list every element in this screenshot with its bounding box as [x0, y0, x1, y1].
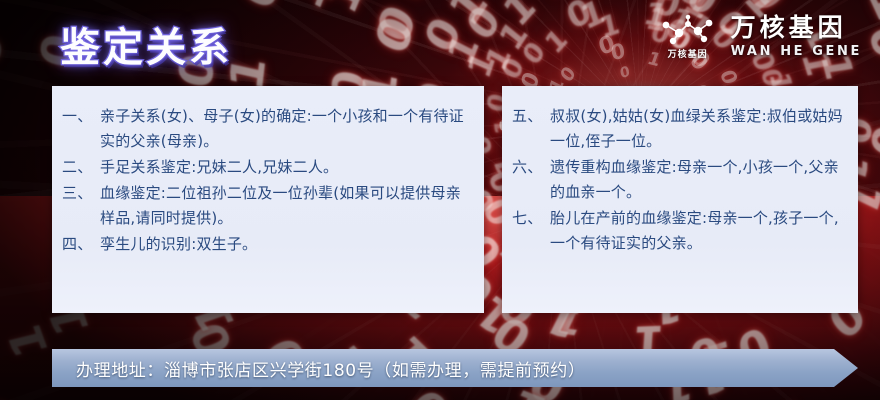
list-item-number: 七、: [512, 206, 550, 231]
brand-logo: 万核基因 万核基因 WAN HE GENE: [657, 14, 862, 60]
list-item: 三、 血缘鉴定:二位祖孙二位及一位孙辈(如果可以提供母亲样品,请同时提供)。: [62, 181, 472, 231]
list-item-number: 六、: [512, 155, 550, 180]
list-item-text: 血缘鉴定:二位祖孙二位及一位孙辈(如果可以提供母亲样品,请同时提供)。: [100, 181, 472, 231]
list-item-number: 四、: [62, 232, 100, 257]
list-item-text: 孪生儿的识别:双生子。: [100, 232, 472, 257]
list-item: 一、 亲子关系(女)、母子(女)的确定:一个小孩和一个有待证实的父亲(母亲)。: [62, 104, 472, 154]
list-item-number: 一、: [62, 104, 100, 129]
address-banner-text: 办理地址：淄博市张店区兴学街180号（如需办理，需提前预约）: [52, 356, 585, 381]
list-item: 二、 手足关系鉴定:兄妹二人,兄妹二人。: [62, 155, 472, 180]
list-item-text: 叔叔(女),姑姑(女)血绿关系鉴定:叔伯或姑妈一位,侄子一位。: [550, 104, 846, 154]
list-item: 五、 叔叔(女),姑姑(女)血绿关系鉴定:叔伯或姑妈一位,侄子一位。: [512, 104, 846, 154]
brand-name-cn: 万核基因: [731, 14, 862, 43]
list-item-number: 二、: [62, 155, 100, 180]
list-item-number: 三、: [62, 181, 100, 206]
page-title: 鉴定关系: [60, 15, 232, 73]
list-item-text: 手足关系鉴定:兄妹二人,兄妹二人。: [100, 155, 472, 180]
list-item: 七、 胎儿在产前的血缘鉴定:母亲一个,孩子一个,一个有待证实的父亲。: [512, 206, 846, 256]
list-item-number: 五、: [512, 104, 550, 129]
list-item-text: 胎儿在产前的血缘鉴定:母亲一个,孩子一个,一个有待证实的父亲。: [550, 206, 846, 256]
list-item: 四、 孪生儿的识别:双生子。: [62, 232, 472, 257]
list-item-text: 遗传重构血缘鉴定:母亲一个,小孩一个,父亲的血亲一个。: [550, 155, 846, 205]
address-banner: 办理地址：淄博市张店区兴学街180号（如需办理，需提前预约）: [52, 349, 858, 387]
molecule-node-icon: 万核基因: [657, 14, 719, 60]
list-item-text: 亲子关系(女)、母子(女)的确定:一个小孩和一个有待证实的父亲(母亲)。: [100, 104, 472, 154]
slide-root: 0110110000010000011001100000010011110000…: [0, 0, 880, 400]
content-panel-right: 五、 叔叔(女),姑姑(女)血绿关系鉴定:叔伯或姑妈一位,侄子一位。 六、 遗传…: [502, 86, 858, 313]
brand-name-en: WAN HE GENE: [731, 45, 862, 60]
brand-wordmark: 万核基因 WAN HE GENE: [731, 14, 862, 60]
content-panel-left: 一、 亲子关系(女)、母子(女)的确定:一个小孩和一个有待证实的父亲(母亲)。 …: [52, 86, 484, 313]
logo-mark-caption: 万核基因: [668, 47, 708, 60]
list-item: 六、 遗传重构血缘鉴定:母亲一个,小孩一个,父亲的血亲一个。: [512, 155, 846, 205]
